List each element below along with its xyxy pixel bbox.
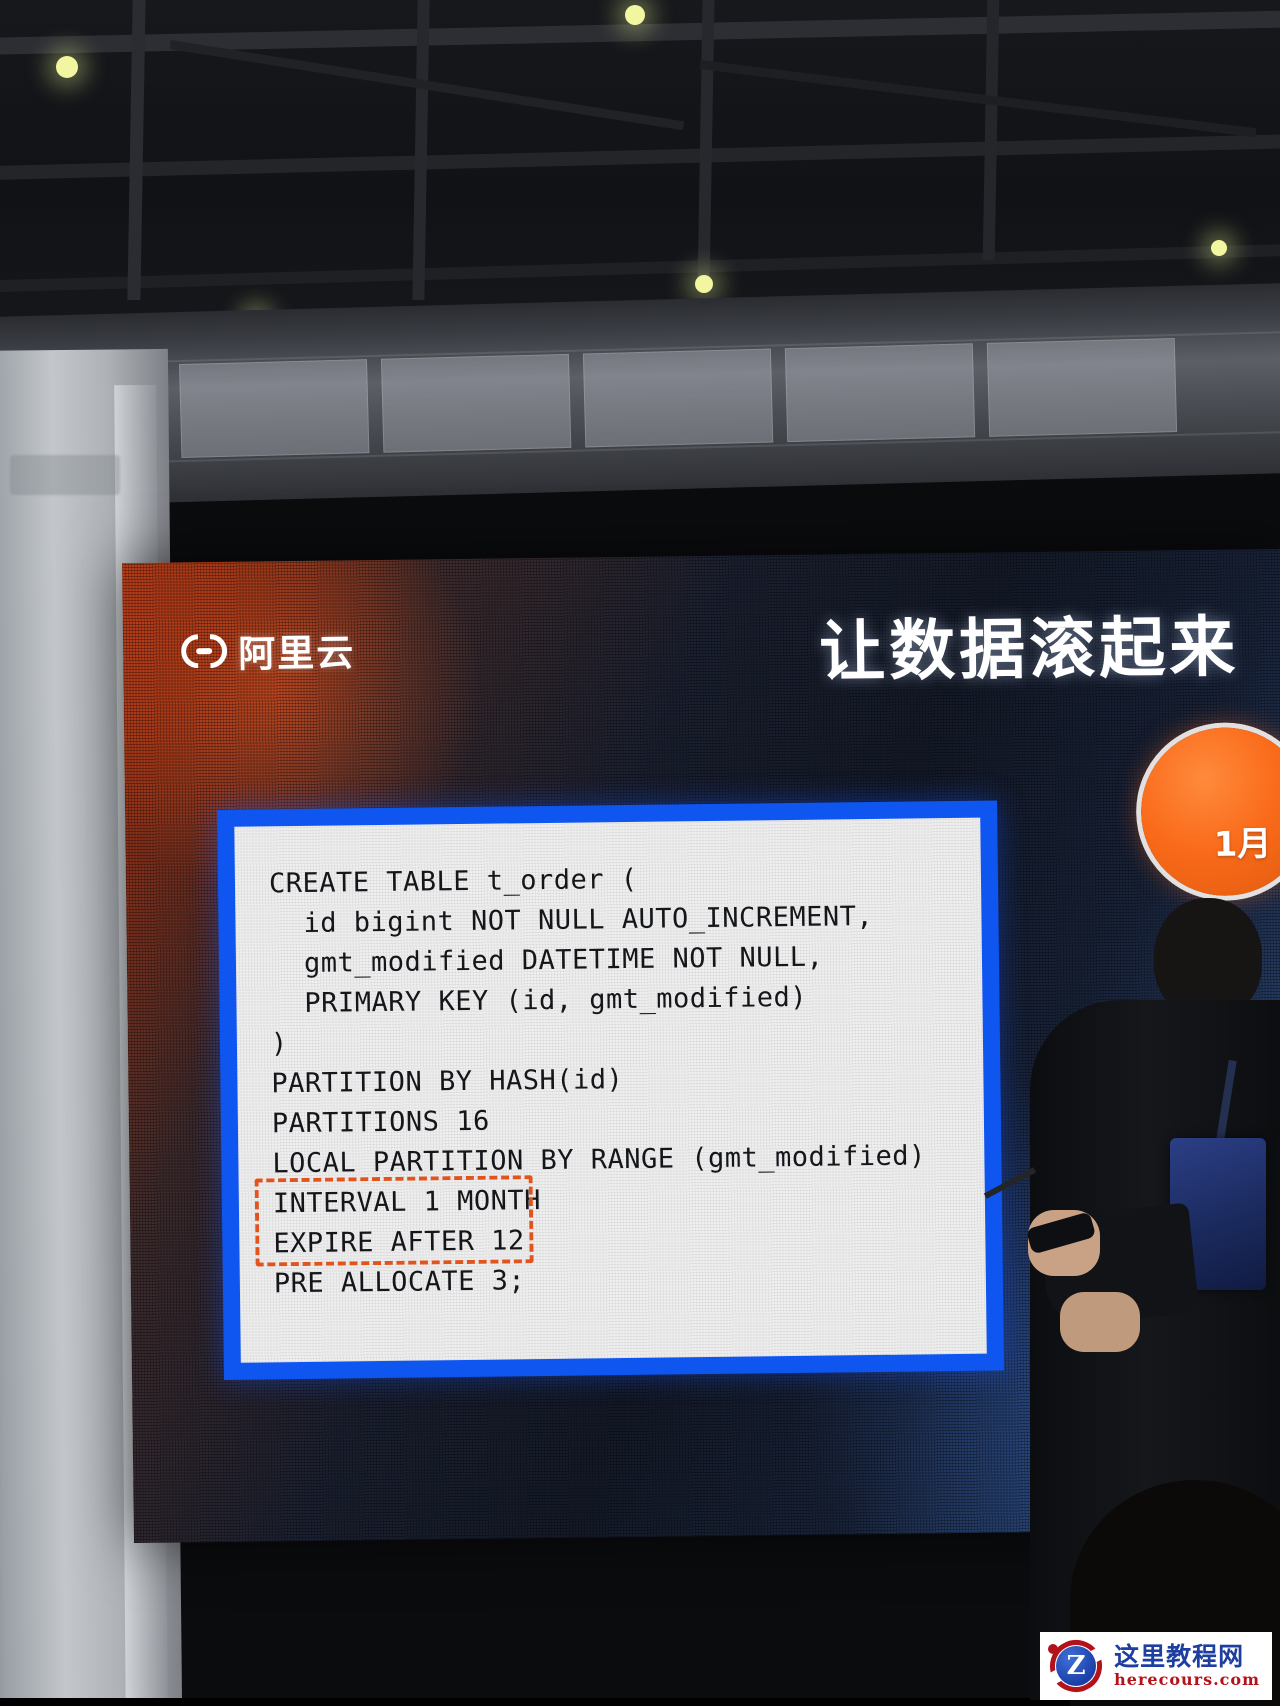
wall-glass-panel <box>785 343 975 442</box>
ceiling-truss <box>0 243 1280 292</box>
slide-title: 让数据滚起来 <box>819 593 1240 694</box>
watermark: Z 这里教程网 herecours.com <box>1040 1632 1272 1700</box>
wall-glass-panel <box>381 354 571 453</box>
ceiling-truss <box>699 60 1256 137</box>
wall-glass-panel <box>179 359 369 458</box>
ceiling-truss <box>983 0 1000 260</box>
sql-code-block: CREATE TABLE t_order (id bigint NOT NULL… <box>269 856 956 1304</box>
wall-glass-panel <box>987 338 1177 437</box>
stage-photo: 阿里云 让数据滚起来 1月 CREATE TABLE t_order (id b… <box>0 0 1280 1706</box>
month-badge-label: 1月 <box>1213 816 1271 866</box>
alibaba-cloud-bracket-icon <box>181 634 227 669</box>
presenter <box>990 880 1280 1706</box>
upper-wall <box>0 283 1280 507</box>
presenter-hand <box>1060 1292 1140 1352</box>
ceiling-lamp <box>56 56 78 78</box>
wall-glass-panel <box>583 349 773 448</box>
code-line: id bigint NOT NULL AUTO_INCREMENT, <box>269 896 951 944</box>
code-line: LOCAL PARTITION BY RANGE (gmt_modified) <box>272 1136 954 1184</box>
ceiling-lamp <box>625 5 645 25</box>
ceiling-lamp <box>695 275 713 293</box>
brand-logo: 阿里云 <box>181 622 356 678</box>
watermark-letter: Z <box>1056 1646 1096 1686</box>
watermark-logo-icon: Z <box>1048 1638 1104 1694</box>
month-badge: 1月 <box>1140 727 1280 897</box>
code-card: CREATE TABLE t_order (id bigint NOT NULL… <box>234 818 986 1363</box>
code-frame: CREATE TABLE t_order (id bigint NOT NULL… <box>217 800 1004 1379</box>
ceiling-lamp <box>1211 240 1227 256</box>
wall-scuff <box>10 455 120 495</box>
code-line: PRE ALLOCATE 3; <box>274 1256 956 1304</box>
ceiling-truss <box>697 0 714 290</box>
presenter-pointer <box>984 1167 1036 1199</box>
brand-name: 阿里云 <box>238 622 356 677</box>
watermark-site-name: 这里教程网 <box>1114 1643 1260 1671</box>
ceiling-truss <box>0 134 1280 180</box>
watermark-site-url: herecours.com <box>1114 1671 1260 1689</box>
